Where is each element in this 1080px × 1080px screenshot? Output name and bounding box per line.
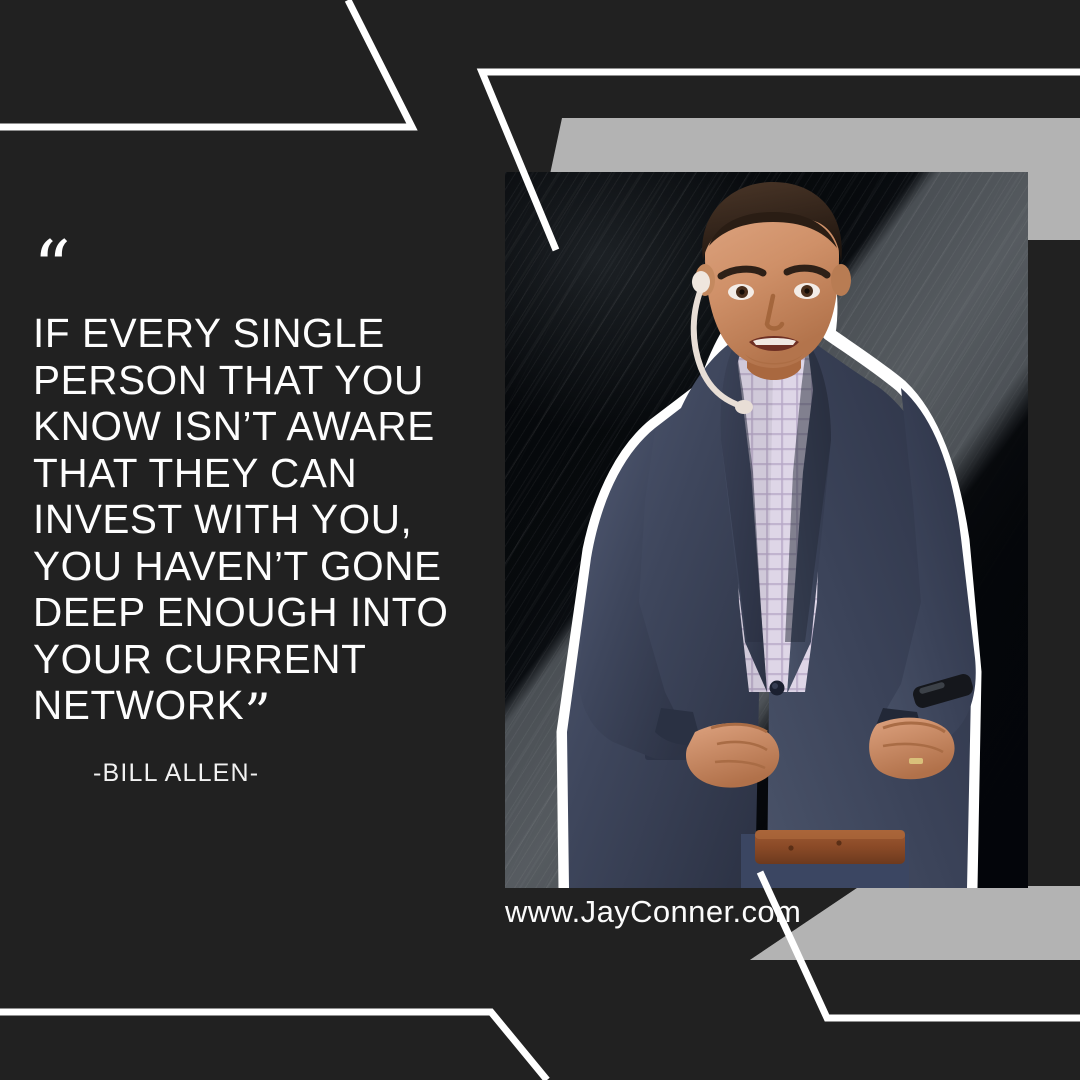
quote-card: “ IF EVERY SINGLE PERSON THAT YOU KNOW I… (0, 0, 1080, 1080)
speaker-illustration (505, 172, 1028, 888)
quote-text: IF EVERY SINGLE PERSON THAT YOU KNOW ISN… (33, 310, 503, 729)
quote-text-body: IF EVERY SINGLE PERSON THAT YOU KNOW ISN… (33, 310, 448, 728)
bottom-left-bracket-line (0, 1012, 547, 1080)
quote-attribution: -BILL ALLEN- (93, 759, 503, 788)
open-quote-icon: “ (33, 248, 503, 294)
speaker-photo (505, 172, 1028, 888)
top-left-bracket-line (0, 0, 412, 127)
quote-block: “ IF EVERY SINGLE PERSON THAT YOU KNOW I… (33, 248, 503, 788)
close-quote-icon: ” (244, 684, 270, 744)
website-url[interactable]: www.JayConner.com (505, 888, 925, 936)
speaker-figure (505, 172, 1028, 888)
